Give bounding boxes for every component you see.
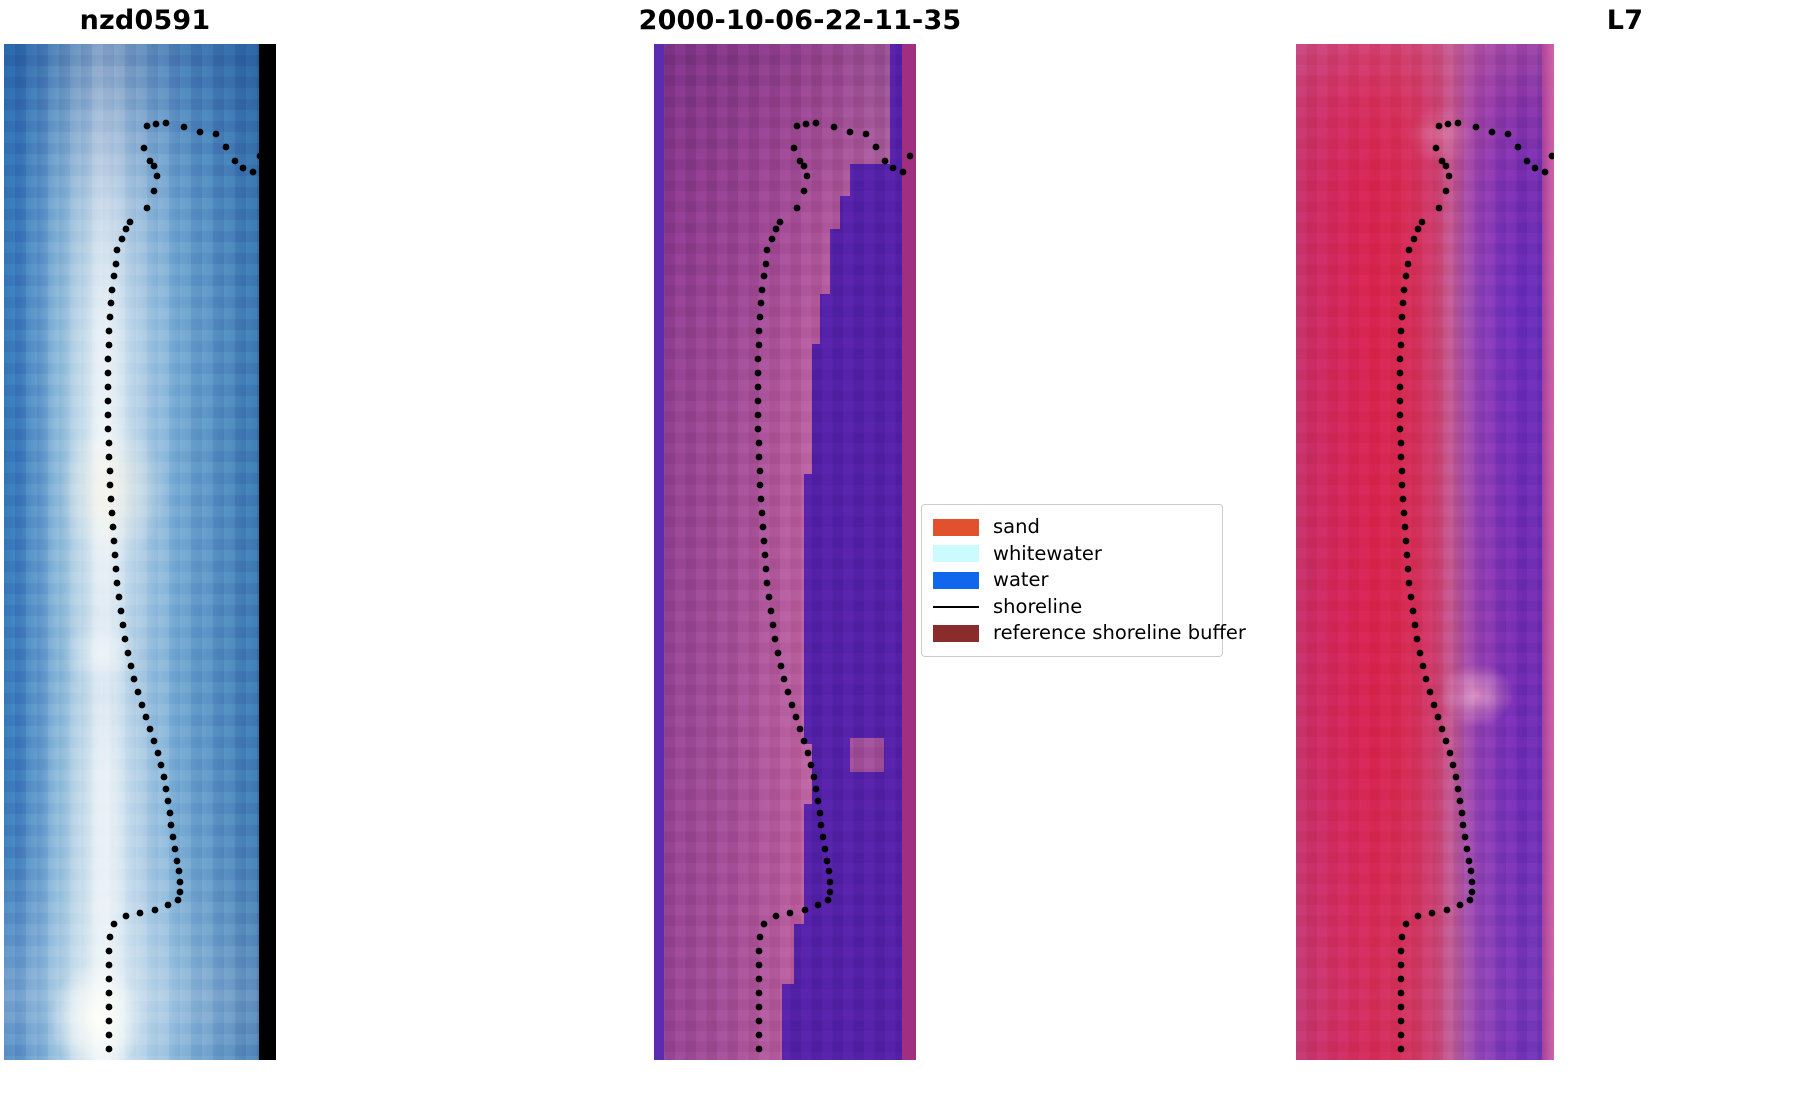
reference-buffer-left-edge [654,44,664,1060]
rgb-nodata-mask-bar [259,44,276,1060]
water-swatch-icon [933,572,979,589]
legend-label-reference-shoreline-buffer: reference shoreline buffer [993,622,1246,644]
legend-item-water[interactable]: water [933,567,1212,594]
panel-title-l7: L7 [1505,6,1745,36]
reference-buffer-swatch-icon [933,625,979,642]
panel-rgb[interactable] [4,44,276,1060]
shoreline-line-icon [933,598,979,615]
panel-title-classified: 2000-10-06-22-11-35 [630,6,970,36]
sand-swatch-icon [933,519,979,536]
legend-box[interactable]: sand whitewater water shoreline referenc… [921,504,1223,657]
legend-label-whitewater: whitewater [993,543,1102,565]
whitewater-swatch-icon [933,545,979,562]
legend-label-shoreline: shoreline [993,596,1082,618]
panel-classified[interactable] [654,44,916,1060]
panel-l7[interactable] [1296,44,1554,1060]
legend-label-sand: sand [993,516,1040,538]
figure-canvas: nzd0591 [0,0,1806,1108]
l7-right-edge-stripe [1542,44,1554,1060]
rgb-pixel-grid [4,44,276,1060]
legend-item-reference-shoreline-buffer[interactable]: reference shoreline buffer [933,620,1212,647]
legend-item-sand[interactable]: sand [933,514,1212,541]
classified-pixel-grid [654,44,916,1060]
legend-item-shoreline[interactable]: shoreline [933,594,1212,621]
reference-buffer-right-edge [902,44,916,1060]
panel-title-rgb: nzd0591 [0,6,290,36]
legend-label-water: water [993,569,1049,591]
l7-pixel-grid [1296,44,1554,1060]
legend-item-whitewater[interactable]: whitewater [933,541,1212,568]
